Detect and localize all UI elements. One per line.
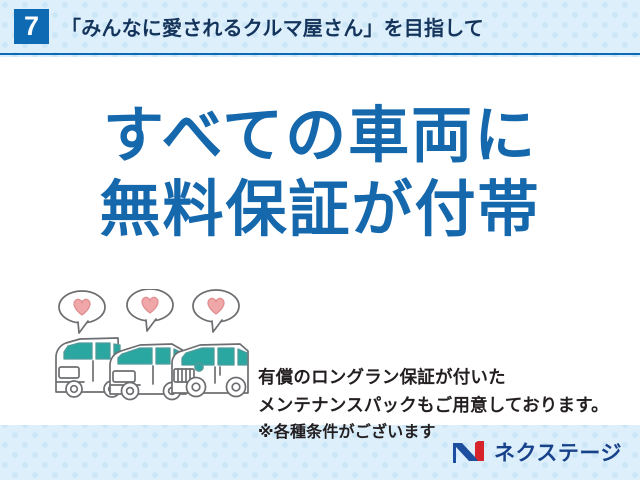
- body-copy-line-2: メンテナンスパックもご用意しております。: [258, 391, 630, 419]
- window-glass: [64, 343, 92, 359]
- heart-bubble-2: [127, 289, 173, 331]
- footer-bar: ネクステージ: [0, 425, 640, 480]
- advertisement-banner: 7 「みんなに愛されるクルマ屋さん」を目指して すべての車両に 無料保証が付帯: [0, 0, 640, 480]
- headline-line-2: 無料保証が付帯: [0, 175, 640, 243]
- heart-bubble-1: [59, 291, 105, 333]
- headlight: [195, 363, 203, 371]
- headline: すべての車両に 無料保証が付帯: [0, 101, 640, 244]
- header-bar: 7 「みんなに愛されるクルマ屋さん」を目指して: [0, 0, 640, 55]
- heart-bubble-3: [193, 290, 239, 332]
- vehicle-suv: [172, 344, 248, 397]
- brand-logo: ネクステージ: [451, 437, 622, 467]
- header-title: 「みんなに愛されるクルマ屋さん」を目指して: [61, 12, 484, 41]
- window-glass: [96, 343, 110, 359]
- content-panel: すべての車両に 無料保証が付帯: [0, 57, 640, 425]
- lower-section: 有償のロングラン保証が付いた メンテナンスパックもご用意しております。 ※各種条…: [0, 289, 640, 421]
- window-glass: [218, 348, 234, 365]
- vehicles-illustration: [44, 289, 260, 409]
- vehicles-svg: [44, 289, 260, 409]
- headline-line-1: すべての車両に: [0, 101, 640, 169]
- section-number-badge: 7: [14, 9, 49, 44]
- body-copy-line-1: 有償のロングラン保証が付いた: [258, 363, 630, 391]
- window-glass: [156, 348, 170, 364]
- brand-name: ネクステージ: [494, 437, 622, 467]
- nextage-n-mark-icon: [451, 439, 487, 465]
